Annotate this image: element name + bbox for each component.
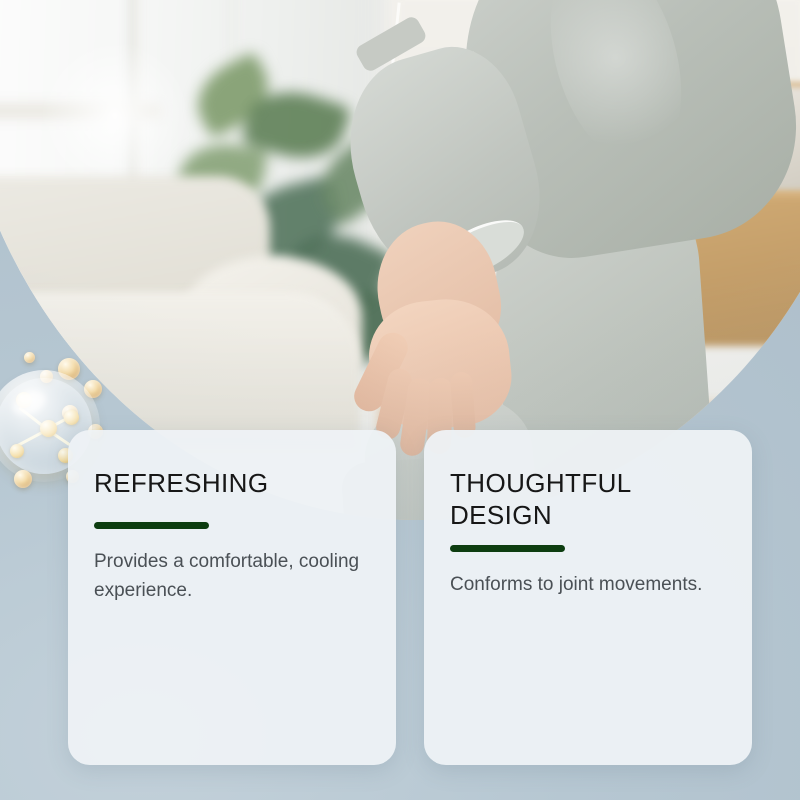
feature-card-thoughtful-design[interactable]: THOUGHTFUL DESIGN Conforms to joint move… <box>424 430 752 765</box>
feature-card-body: Provides a comfortable, cooling experien… <box>94 547 370 606</box>
feature-card-body: Conforms to joint movements. <box>450 570 726 599</box>
feature-card-title: REFRESHING <box>94 468 370 500</box>
feature-card-refreshing[interactable]: REFRESHING Provides a comfortable, cooli… <box>68 430 396 765</box>
accent-rule <box>94 522 209 529</box>
accent-rule <box>450 545 565 552</box>
feature-card-title: THOUGHTFUL DESIGN <box>450 468 726 531</box>
product-feature-poster: REFRESHING Provides a comfortable, cooli… <box>0 0 800 800</box>
feature-card-list: REFRESHING Provides a comfortable, cooli… <box>0 0 800 800</box>
